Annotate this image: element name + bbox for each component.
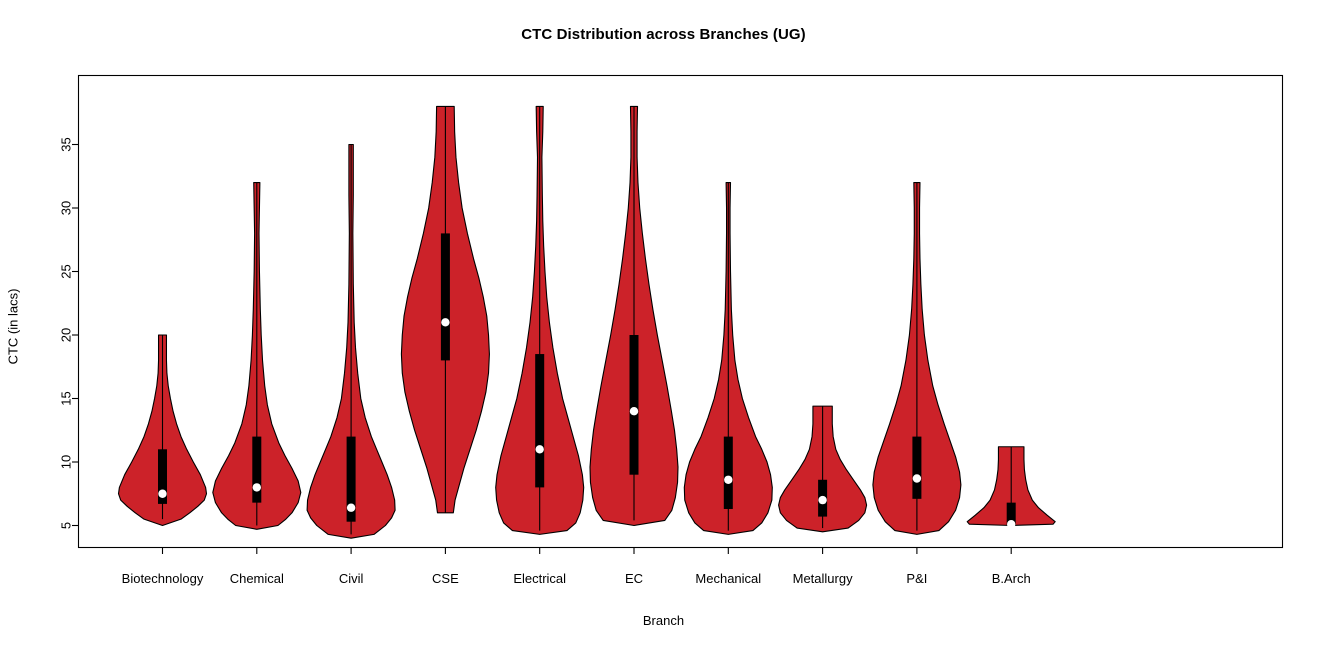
x-tick-label: EC bbox=[625, 571, 643, 586]
y-axis-ticks: 5101520253035 bbox=[59, 137, 80, 529]
y-tick-label: 15 bbox=[59, 391, 74, 405]
violin-mechanical[interactable] bbox=[684, 183, 772, 535]
median-marker bbox=[441, 318, 449, 326]
iqr-box bbox=[252, 437, 261, 503]
iqr-box bbox=[441, 233, 450, 360]
y-tick-label: 30 bbox=[59, 201, 74, 215]
y-tick-label: 10 bbox=[59, 455, 74, 469]
violin-b-arch[interactable] bbox=[967, 447, 1055, 529]
y-tick-label: 25 bbox=[59, 264, 74, 278]
violin-plot-figure: CTC Distribution across Branches (UG) CT… bbox=[0, 0, 1327, 653]
iqr-box bbox=[535, 354, 544, 487]
y-tick-label: 5 bbox=[59, 522, 74, 529]
median-marker bbox=[724, 476, 732, 484]
violin-metallurgy[interactable] bbox=[779, 406, 867, 532]
violin-chemical[interactable] bbox=[213, 183, 301, 530]
median-marker bbox=[818, 496, 826, 504]
median-marker bbox=[536, 445, 544, 453]
iqr-box bbox=[912, 437, 921, 499]
median-marker bbox=[1007, 520, 1015, 528]
median-marker bbox=[630, 407, 638, 415]
violin-civil[interactable] bbox=[307, 145, 395, 539]
x-tick-label: CSE bbox=[432, 571, 459, 586]
iqr-box bbox=[724, 437, 733, 509]
violin-electrical[interactable] bbox=[496, 106, 584, 534]
x-tick-label: B.Arch bbox=[992, 571, 1031, 586]
violin-p-i[interactable] bbox=[873, 183, 961, 535]
violin-cse[interactable] bbox=[401, 106, 489, 512]
median-marker bbox=[253, 483, 261, 491]
violin-biotechnology[interactable] bbox=[119, 335, 207, 526]
median-marker bbox=[158, 490, 166, 498]
iqr-box bbox=[630, 335, 639, 475]
x-axis-labels: BiotechnologyChemicalCivilCSEElectricalE… bbox=[122, 571, 1031, 586]
y-tick-label: 20 bbox=[59, 328, 74, 342]
violin-series-group bbox=[119, 106, 1056, 538]
median-marker bbox=[913, 474, 921, 482]
y-tick-label: 35 bbox=[59, 137, 74, 151]
x-tick-label: Biotechnology bbox=[122, 571, 204, 586]
x-tick-label: Mechanical bbox=[695, 571, 761, 586]
x-tick-label: Chemical bbox=[230, 571, 284, 586]
x-tick-label: Electrical bbox=[513, 571, 566, 586]
x-tick-label: Metallurgy bbox=[793, 571, 853, 586]
x-tick-label: Civil bbox=[339, 571, 364, 586]
median-marker bbox=[347, 504, 355, 512]
plot-canvas: 5101520253035 BiotechnologyChemicalCivil… bbox=[0, 0, 1327, 653]
x-tick-label: P&I bbox=[906, 571, 927, 586]
violin-ec[interactable] bbox=[590, 106, 678, 525]
